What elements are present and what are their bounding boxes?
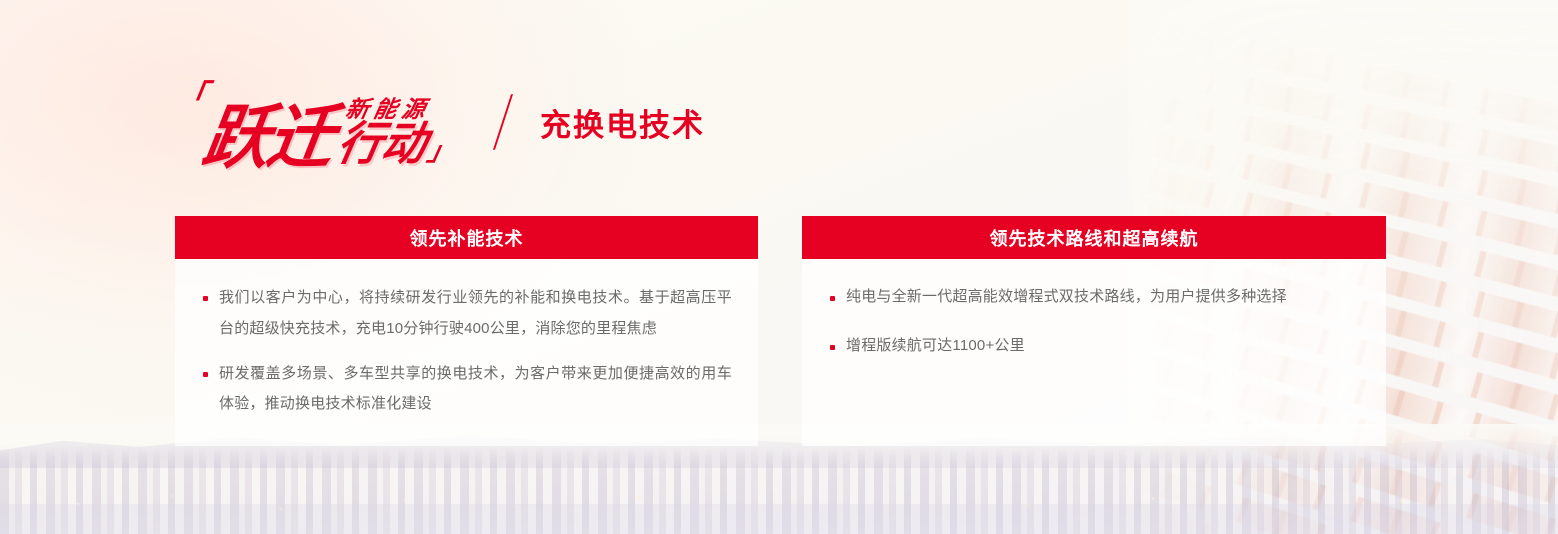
page-title: 充换电技术 [540, 100, 705, 145]
logo-subtitle-large: 行动 [334, 123, 435, 167]
banner-header: 「 跃迁 新能源 行动 」 充换电技术 [176, 76, 705, 168]
card-title-technology-roadmap: 领先技术路线和超高续航 [802, 216, 1386, 259]
logo-close-quote-icon: 」 [425, 138, 456, 164]
bullet-list-technology-roadmap: 纯电与全新一代超高能效增程式双技术路线，为用户提供多种选择 增程版续航可达110… [828, 283, 1360, 360]
card-title-charging-technology: 领先补能技术 [175, 216, 758, 259]
brand-logo: 「 跃迁 新能源 行动 」 [176, 76, 454, 168]
station-top-fade-overlay [1128, 0, 1558, 210]
list-item: 我们以客户为中心，将持续研发行业领先的补能和换电技术。基于超高压平台的超级快充技… [201, 283, 732, 345]
logo-subtitle-small: 新能源 [344, 98, 432, 121]
logo-main-text: 跃迁 [199, 105, 337, 169]
card-body-charging-technology: 我们以客户为中心，将持续研发行业领先的补能和换电技术。基于超高压平台的超级快充技… [175, 259, 758, 446]
list-item: 研发覆盖多场景、多车型共享的换电技术，为客户带来更加便捷高效的用车体验，推动换电… [201, 359, 732, 421]
feature-card-charging-technology: 领先补能技术 我们以客户为中心，将持续研发行业领先的补能和换电技术。基于超高压平… [175, 216, 758, 446]
feature-card-group: 领先补能技术 我们以客户为中心，将持续研发行业领先的补能和换电技术。基于超高压平… [175, 216, 1386, 446]
feature-card-technology-roadmap: 领先技术路线和超高续航 纯电与全新一代超高能效增程式双技术路线，为用户提供多种选… [802, 216, 1386, 446]
list-item: 增程版续航可达1100+公里 [828, 332, 1360, 361]
promo-banner: 「 跃迁 新能源 行动 」 充换电技术 领先补能技术 我们以客户为中心，将持续研… [0, 0, 1558, 534]
bullet-list-charging-technology: 我们以客户为中心，将持续研发行业领先的补能和换电技术。基于超高压平台的超级快充技… [201, 283, 732, 420]
slash-divider-icon [493, 94, 513, 150]
card-body-technology-roadmap: 纯电与全新一代超高能效增程式双技术路线，为用户提供多种选择 增程版续航可达110… [802, 259, 1386, 446]
logo-sub-stack: 新能源 行动 [338, 98, 430, 168]
logo-open-quote-icon: 「 [174, 82, 209, 112]
list-item: 纯电与全新一代超高能效增程式双技术路线，为用户提供多种选择 [828, 283, 1360, 312]
